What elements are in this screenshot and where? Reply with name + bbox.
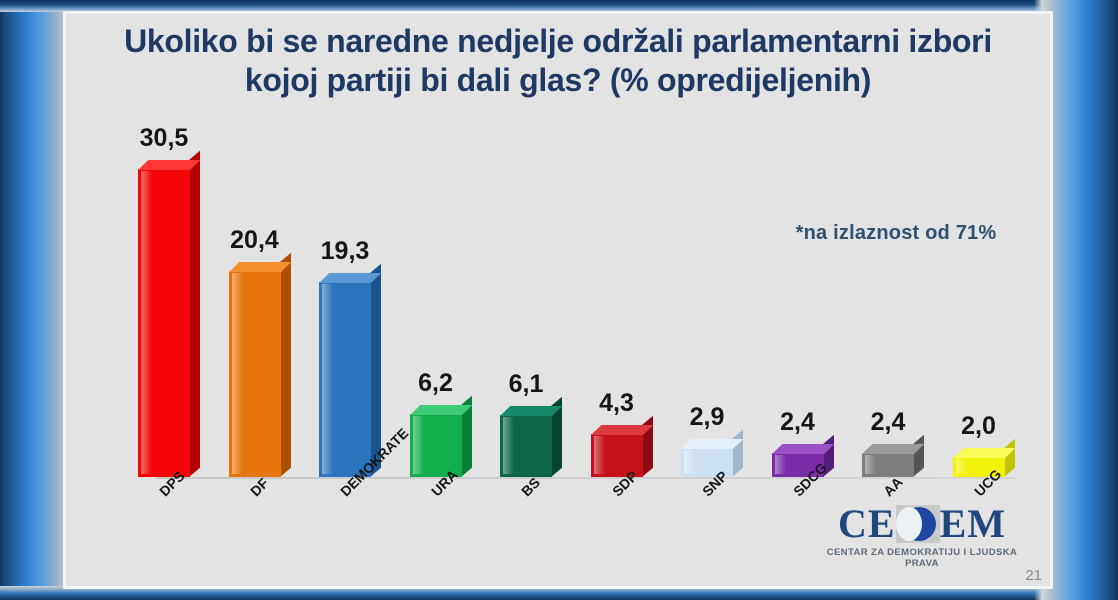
bar-top-face — [681, 439, 743, 449]
bar-front-face — [862, 453, 914, 477]
bar-body — [138, 169, 190, 477]
bar-highlight — [594, 436, 605, 474]
bar-highlight — [684, 450, 695, 474]
bar-body — [229, 271, 281, 477]
page-title: Ukoliko bi se naredne nedjelje održali p… — [86, 22, 1030, 101]
bar-body — [862, 453, 914, 477]
bar-top-face — [772, 444, 834, 454]
bar-body — [591, 434, 643, 477]
bar-top-face — [500, 406, 562, 416]
logo-tagline: CENTAR ZA DEMOKRATIJU I LJUDSKA PRAVA — [822, 547, 1022, 569]
bar-value-label: 2,9 — [667, 403, 747, 432]
bar-value-label: 19,3 — [305, 237, 385, 266]
logo-text-ce: CE — [838, 501, 896, 546]
slide-canvas: Ukoliko bi se naredne nedjelje održali p… — [66, 14, 1050, 586]
bar-highlight — [503, 417, 514, 474]
bar-body — [410, 414, 462, 477]
bar-top-face — [319, 273, 381, 283]
page-number: 21 — [1025, 567, 1042, 584]
bar-highlight — [232, 273, 243, 474]
logo-circle-d-icon — [896, 505, 940, 543]
bar-highlight — [413, 416, 424, 474]
bar-value-label: 20,4 — [215, 226, 295, 255]
bar-front-face — [591, 434, 643, 477]
bar-value-label: 6,1 — [486, 370, 566, 399]
bar-top-face — [138, 160, 200, 170]
bar-value-label: 30,5 — [124, 124, 204, 153]
bar-side-face — [732, 430, 743, 477]
bar-highlight — [956, 459, 967, 474]
bar-body — [319, 282, 371, 477]
bar-side-face — [189, 151, 200, 477]
logo-wordmark: CEEM — [822, 502, 1022, 546]
bar-front-face — [500, 415, 552, 477]
bar-value-label: 2,0 — [939, 412, 1019, 441]
bar-front-face — [138, 169, 190, 477]
bar-side-face — [913, 435, 924, 477]
bar-value-label: 2,4 — [848, 408, 928, 437]
bar-side-face — [280, 253, 291, 477]
bar-top-face — [410, 405, 472, 415]
bar-highlight — [322, 284, 333, 474]
bar-top-face — [591, 425, 653, 435]
bar-top-face — [862, 444, 924, 454]
bar-front-face — [229, 271, 281, 477]
bar-value-label: 6,2 — [396, 369, 476, 398]
bar-highlight — [775, 455, 786, 474]
frame-top-strip — [0, 0, 1118, 12]
bar-value-label: 4,3 — [577, 389, 657, 418]
bar-body — [500, 415, 552, 477]
cedem-logo: CEEM CENTAR ZA DEMOKRATIJU I LJUDSKA PRA… — [822, 502, 1022, 580]
chart-plot-area: 30,520,419,36,26,14,32,92,42,42,0 — [86, 144, 1030, 479]
bar-highlight — [865, 455, 876, 474]
bar-front-face — [410, 414, 462, 477]
bar-top-face — [953, 448, 1015, 458]
logo-text-em: EM — [940, 501, 1006, 546]
chart-baseline-axis — [156, 477, 1016, 479]
bar-highlight — [141, 171, 152, 474]
bar-top-face — [229, 262, 291, 272]
bar-value-label: 2,4 — [758, 408, 838, 437]
frame-bottom-strip — [0, 586, 1118, 600]
bar-front-face — [319, 282, 371, 477]
slide-frame: Ukoliko bi se naredne nedjelje održali p… — [0, 0, 1118, 600]
